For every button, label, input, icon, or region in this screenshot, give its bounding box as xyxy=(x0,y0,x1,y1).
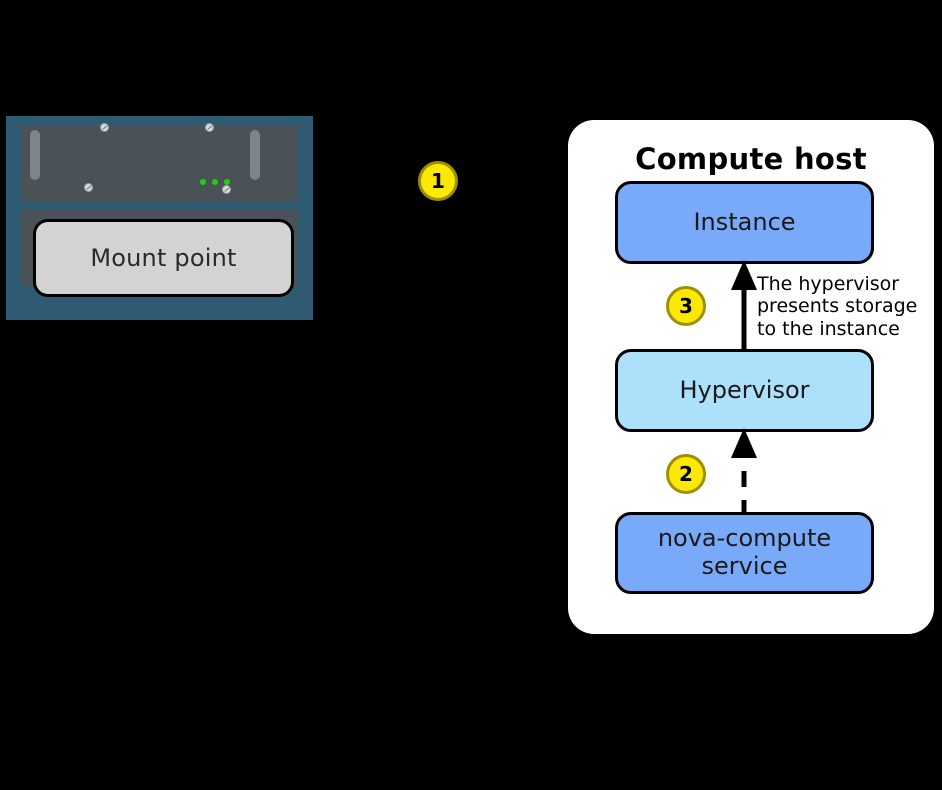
mount-point-label: Mount point xyxy=(90,244,236,272)
hypervisor-annotation-line-3: to the instance xyxy=(757,318,937,340)
status-led-icon-2 xyxy=(212,179,218,185)
compute-host-title: Compute host xyxy=(568,142,934,176)
hypervisor-annotation-line-2: presents storage xyxy=(757,295,937,317)
compute-host-panel: Compute host Instance The hypervisor pre… xyxy=(568,120,934,634)
step-badge-1-label: 1 xyxy=(431,171,445,191)
screw-icon-top-right xyxy=(205,123,214,132)
arrow-nova-compute-to-hypervisor xyxy=(729,428,759,516)
step-badge-3: 3 xyxy=(666,286,706,326)
hypervisor-annotation-text: The hypervisor presents storage to the i… xyxy=(757,273,937,340)
screw-icon-bottom-right xyxy=(222,185,231,194)
instance-box: Instance xyxy=(615,181,874,264)
status-led-icon-1 xyxy=(200,179,206,185)
status-led-icon-3 xyxy=(224,179,230,185)
rack-handle-left-icon xyxy=(30,130,40,180)
step-badge-2-label: 2 xyxy=(679,464,693,484)
hypervisor-annotation-line-1: The hypervisor xyxy=(757,273,937,295)
step-badge-3-label: 3 xyxy=(679,296,693,316)
mount-point-box: Mount point xyxy=(33,219,294,297)
nova-compute-service-box: nova-compute service xyxy=(615,512,874,594)
nova-compute-service-label: nova-compute service xyxy=(658,525,831,580)
step-badge-2: 2 xyxy=(666,454,706,494)
screw-icon-top-left xyxy=(100,123,109,132)
nova-compute-service-line-2: service xyxy=(702,552,788,580)
screw-icon-bottom-left xyxy=(84,183,93,192)
hypervisor-label: Hypervisor xyxy=(679,377,809,405)
arrow-hypervisor-to-instance xyxy=(729,260,759,352)
nova-compute-service-line-1: nova-compute xyxy=(658,524,831,552)
instance-label: Instance xyxy=(693,209,795,237)
step-badge-1: 1 xyxy=(418,161,458,201)
hypervisor-box: Hypervisor xyxy=(615,349,874,432)
rack-handle-right-icon xyxy=(250,130,260,180)
